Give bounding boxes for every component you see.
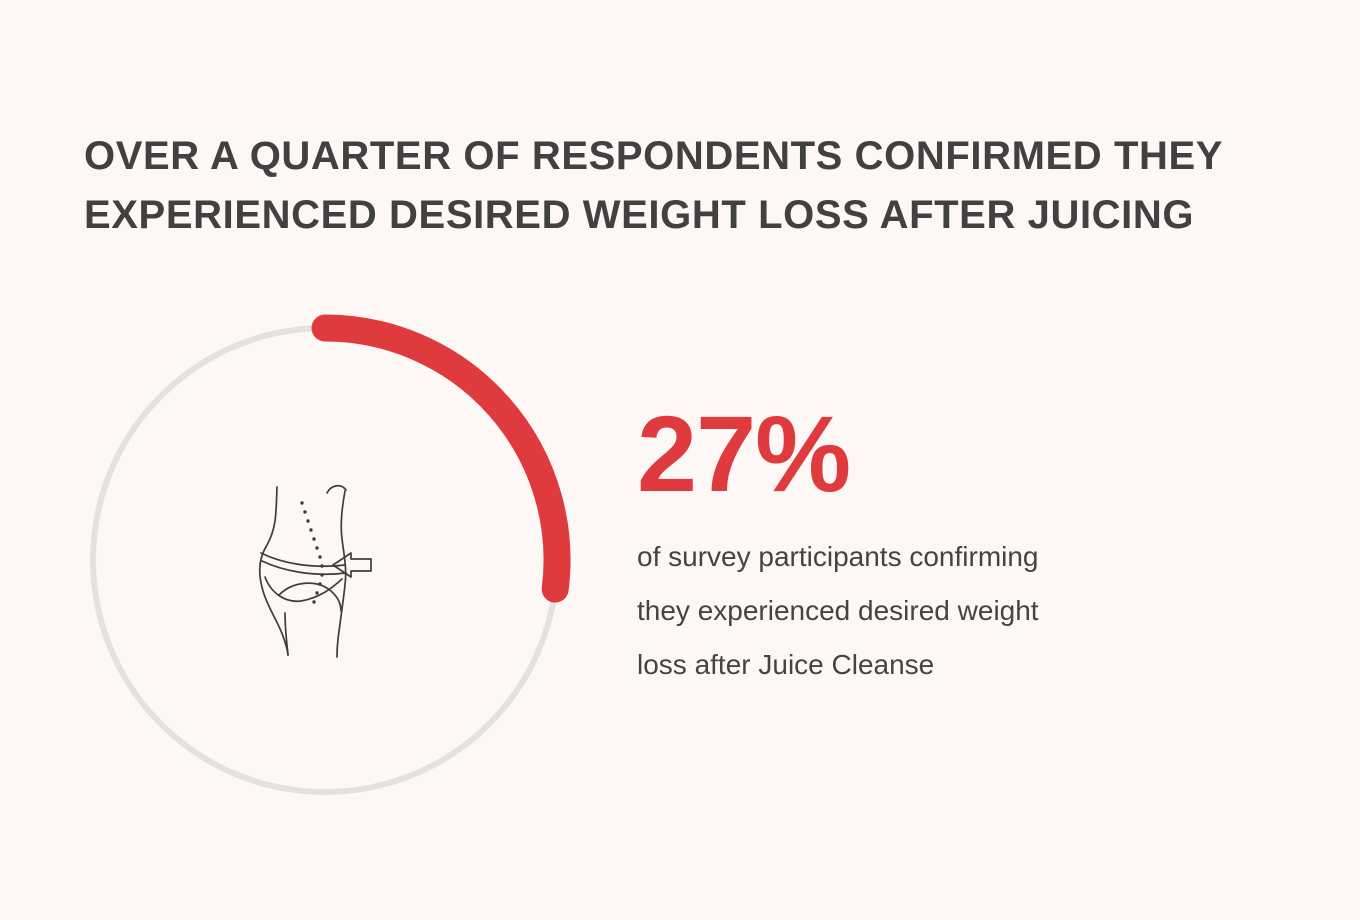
leg-inner-contour-icon [285, 613, 288, 655]
stat-caption-line-2: they experienced desired weight [637, 584, 1197, 638]
infographic-root: OVER A QUARTER OF RESPONDENTS CONFIRMED … [0, 0, 1360, 920]
underwear-leg-opening-icon [265, 577, 342, 601]
stat-caption-line-3: loss after Juice Cleanse [637, 638, 1197, 692]
page-title-line-2: EXPERIENCED DESIRED WEIGHT LOSS AFTER JU… [84, 186, 1264, 245]
stat-block: 27% of survey participants confirming th… [637, 398, 1217, 692]
stat-percentage-value: 27% [637, 398, 1217, 510]
body-back-contour-icon [260, 487, 288, 655]
underwear-band-inner-icon [262, 561, 346, 574]
page-title: OVER A QUARTER OF RESPONDENTS CONFIRMED … [84, 127, 1264, 245]
underwear-top-band-icon [261, 553, 345, 566]
dotted-waistline-icon [300, 501, 323, 603]
stat-caption-line-1: of survey participants confirming [637, 530, 1197, 584]
stat-caption: of survey participants confirming they e… [637, 530, 1197, 692]
body-top-hook-icon [327, 486, 346, 493]
page-title-line-1: OVER A QUARTER OF RESPONDENTS CONFIRMED … [84, 127, 1264, 186]
body-waist-silhouette-icon [245, 465, 425, 665]
